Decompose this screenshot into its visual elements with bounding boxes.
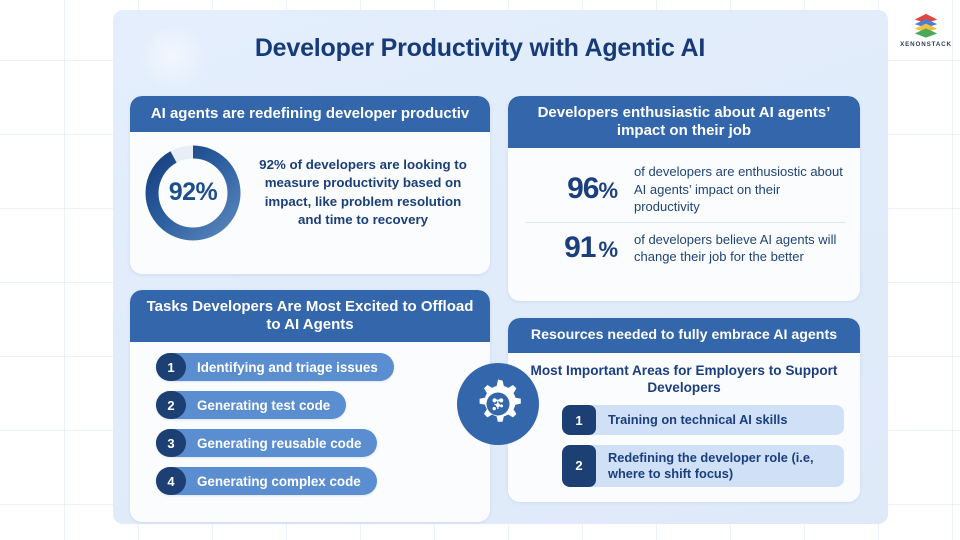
list-item-number: 2 (156, 391, 186, 419)
list-item-number: 3 (156, 429, 186, 457)
list-item[interactable]: 3 Generating reusable code (156, 429, 377, 457)
stat-value: 91 (564, 231, 595, 264)
stat-text: of developers believe AI agents will cha… (634, 231, 846, 266)
card-a-body: 92% 92% of developers are looking to mea… (130, 132, 490, 256)
list-item-label: Generating reusable code (186, 436, 361, 451)
card-a-lead-rest: of developers are looking to measure pro… (265, 157, 467, 227)
stat-number: 96% (526, 172, 618, 206)
card-b-header: Developers enthusiastic about AI agents’… (508, 96, 860, 148)
list-item-number: 1 (562, 405, 596, 435)
list-item-label: Identifying and triage issues (186, 360, 378, 375)
list-item[interactable]: 2 Redefining the developer role (i.e, wh… (562, 445, 844, 487)
card-a-header: AI agents are redefining developer produ… (130, 96, 490, 132)
list-item-number: 4 (156, 467, 186, 495)
stat-percent-sign: % (598, 237, 618, 262)
card-c-header: Tasks Developers Are Most Excited to Off… (130, 290, 490, 342)
donut-chart-92: 92% (140, 140, 246, 246)
list-item-label: Training on technical AI skills (596, 405, 797, 435)
list-item-number: 1 (156, 353, 186, 381)
card-ai-agents-redefining: AI agents are redefining developer produ… (130, 96, 490, 274)
card-d-subtitle: Most Important Areas for Employers to Su… (524, 362, 844, 396)
card-tasks-to-offload: Tasks Developers Are Most Excited to Off… (130, 290, 490, 522)
list-item[interactable]: 1 Training on technical AI skills (562, 405, 844, 435)
list-item[interactable]: 1 Identifying and triage issues (156, 353, 394, 381)
donut-value-label: 92% (140, 140, 246, 246)
card-developer-enthusiasm: Developers enthusiastic about AI agents’… (508, 96, 860, 301)
stat-number: 91% (526, 231, 618, 265)
card-d-body: Most Important Areas for Employers to Su… (508, 353, 860, 502)
list-item[interactable]: 2 Generating test code (156, 391, 346, 419)
stat-percent-sign: % (598, 178, 618, 203)
list-item-label: Redefining the developer role (i.e, wher… (596, 445, 844, 487)
list-item-label: Generating test code (186, 398, 330, 413)
card-a-description: 92% of developers are looking to measure… (252, 156, 476, 229)
card-b-body: 96% of developers are enthusiostic about… (508, 148, 860, 279)
brand-name: XENONSTACK (893, 41, 959, 48)
card-resources-needed: Resources needed to fully embrace AI age… (508, 318, 860, 502)
gear-icon-svg (456, 362, 540, 446)
stat-row: 91% of developers believe AI agents will… (526, 222, 846, 272)
card-d-header: Resources needed to fully embrace AI age… (508, 318, 860, 353)
list-item[interactable]: 4 Generating complex code (156, 467, 377, 495)
stat-row: 96% of developers are enthusiostic about… (526, 158, 846, 221)
page-title: Developer Productivity with Agentic AI (0, 34, 960, 63)
gear-ai-icon (456, 362, 540, 446)
card-c-body: 1 Identifying and triage issues 2 Genera… (130, 342, 490, 517)
xenonstack-logo-icon (893, 12, 959, 40)
list-item-label: Generating complex code (186, 474, 361, 489)
card-a-lead-number: 92% (259, 157, 286, 172)
stat-text: of developers are enthusiostic about AI … (634, 163, 846, 215)
list-item-number: 2 (562, 445, 596, 487)
brand-logo: XENONSTACK (893, 12, 959, 54)
stat-value: 96 (567, 172, 598, 205)
